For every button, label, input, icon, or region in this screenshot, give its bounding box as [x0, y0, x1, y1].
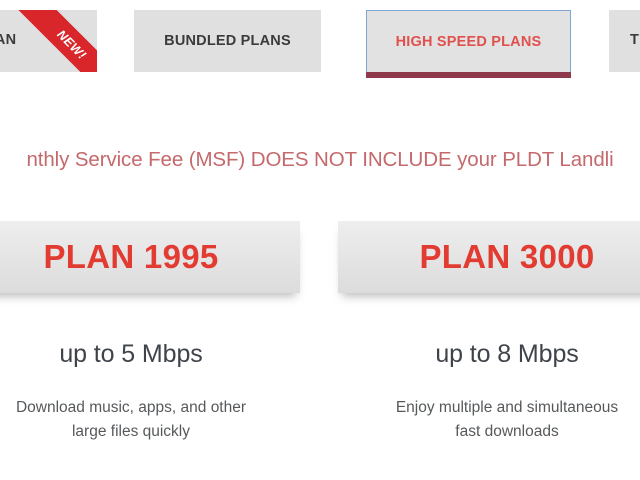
new-badge-label: NEW!	[55, 27, 90, 62]
plan-category-tab-bar: PLAN NEW! BUNDLED PLANS HIGH SPEED PLANS…	[0, 0, 640, 100]
plan-card-header: PLAN 1995	[0, 221, 300, 293]
msf-notice-text: nthly Service Fee (MSF) DOES NOT INCLUDE…	[26, 148, 613, 172]
plan-description: Download music, apps, and other large fi…	[0, 396, 300, 444]
tab-high-speed-plans[interactable]: HIGH SPEED PLANS	[366, 10, 571, 72]
plan-description-line: Enjoy multiple and simultaneous	[338, 396, 640, 420]
plan-card-header: PLAN 3000	[338, 221, 640, 293]
tab-plan[interactable]: PLAN NEW!	[0, 10, 97, 72]
tab-bundled-plans-label: BUNDLED PLANS	[164, 33, 291, 49]
msf-notice: nthly Service Fee (MSF) DOES NOT INCLUDE…	[0, 140, 640, 180]
plan-speed: up to 8 Mbps	[338, 340, 640, 369]
plan-title: PLAN 1995	[43, 238, 218, 276]
plan-description-line: large files quickly	[0, 420, 300, 444]
tab-bundled-plans[interactable]: BUNDLED PLANS	[134, 10, 321, 72]
plan-speed: up to 5 Mbps	[0, 340, 300, 369]
tab-high-speed-plans-label: HIGH SPEED PLANS	[396, 34, 542, 50]
plan-card-list: PLAN 1995 up to 5 Mbps Download music, a…	[0, 205, 640, 480]
tab-truncated[interactable]: T	[609, 10, 640, 72]
plan-description: Enjoy multiple and simultaneous fast dow…	[338, 396, 640, 444]
plan-title: PLAN 3000	[419, 238, 594, 276]
plan-card[interactable]: PLAN 3000 up to 8 Mbps Enjoy multiple an…	[338, 205, 640, 480]
tab-plan-label: PLAN	[0, 32, 16, 48]
active-tab-indicator	[366, 72, 571, 78]
plan-description-line: Download music, apps, and other	[0, 396, 300, 420]
plan-selection-page: PLAN NEW! BUNDLED PLANS HIGH SPEED PLANS…	[0, 0, 640, 480]
plan-description-line: fast downloads	[338, 420, 640, 444]
tab-truncated-label: T	[630, 32, 639, 48]
plan-card[interactable]: PLAN 1995 up to 5 Mbps Download music, a…	[0, 205, 300, 480]
